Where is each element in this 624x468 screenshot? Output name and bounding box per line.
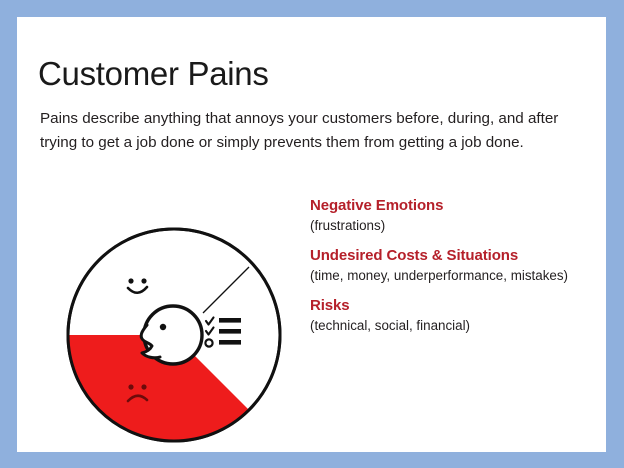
category-detail: (technical, social, financial): [310, 317, 595, 334]
category-list: Negative Emotions (frustrations) Undesir…: [310, 197, 595, 347]
category-heading: Undesired Costs & Situations: [310, 247, 595, 266]
category-detail: (time, money, underperformance, mistakes…: [310, 267, 595, 284]
head-eye-icon: [160, 324, 166, 330]
category-heading: Negative Emotions: [310, 197, 595, 216]
intro-paragraph: Pains describe anything that annoys your…: [40, 107, 560, 154]
customer-profile-diagram: [51, 207, 301, 457]
category-heading: Risks: [310, 297, 595, 316]
category-negative-emotions: Negative Emotions (frustrations): [310, 197, 595, 234]
page-title: Customer Pains: [38, 56, 269, 92]
category-undesired-costs: Undesired Costs & Situations (time, mone…: [310, 247, 595, 284]
category-detail: (frustrations): [310, 217, 595, 234]
slide-frame: Customer Pains Pains describe anything t…: [0, 0, 624, 468]
slide-card: Customer Pains Pains describe anything t…: [17, 17, 606, 452]
category-risks: Risks (technical, social, financial): [310, 297, 595, 334]
customer-profile-svg: [51, 207, 301, 457]
